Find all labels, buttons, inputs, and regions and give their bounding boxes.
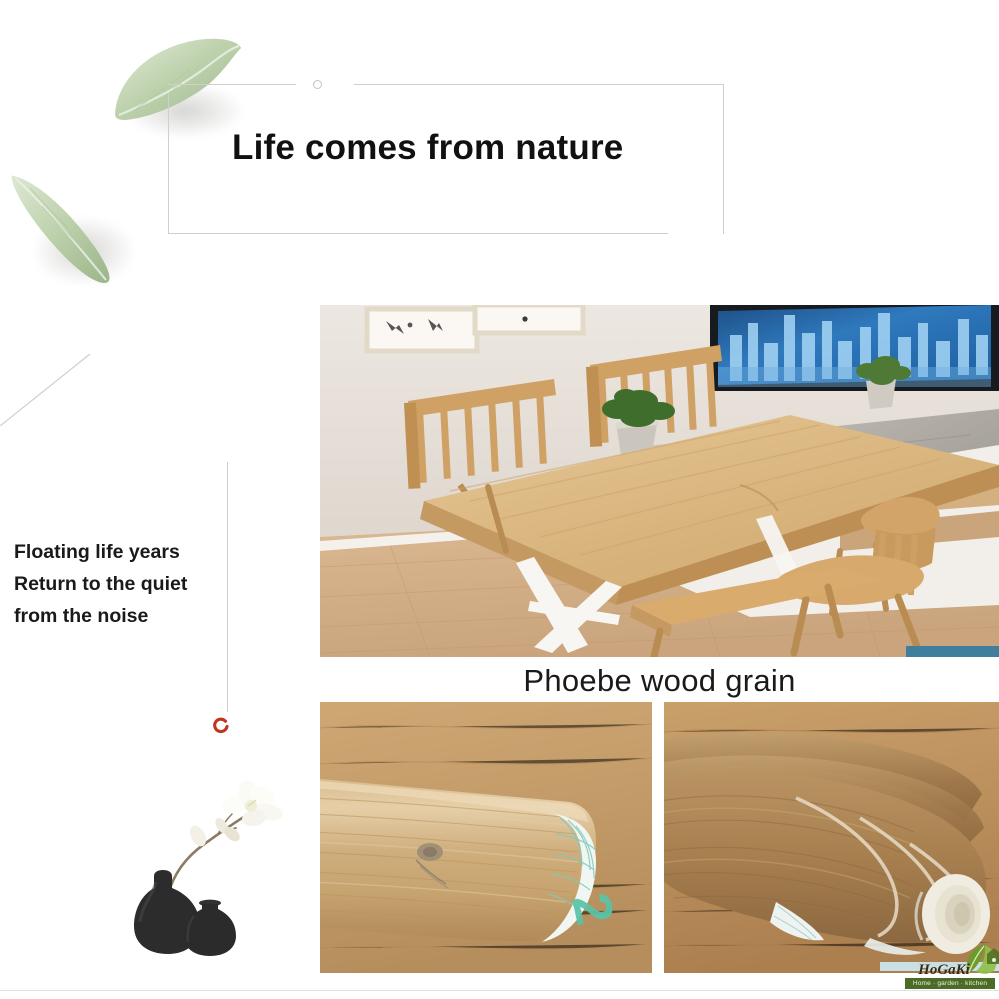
footer-divider <box>0 990 999 991</box>
tagline-line-2: Return to the quiet <box>14 568 224 600</box>
product-banner: Life comes from nature Floating life yea… <box>0 0 999 999</box>
product-caption: Phoebe wood grain <box>320 660 999 702</box>
frame-line-left <box>168 93 169 234</box>
brand-tagline: Home · garden · kitchen <box>905 978 995 989</box>
frame-line-top-left <box>168 84 296 85</box>
frame-line-top-right <box>354 84 724 85</box>
brand-logo: HoGaKi Home · garden · kitchen <box>905 944 999 992</box>
vertical-guide-line <box>227 462 228 712</box>
ring-marker-icon <box>211 716 231 736</box>
tagline-line-3: from the noise <box>14 600 224 632</box>
vase-illustration <box>118 770 288 960</box>
frame-dot-icon <box>313 80 322 89</box>
dining-room-photo <box>320 305 999 657</box>
page-title: Life comes from nature <box>232 128 752 168</box>
brand-name: HoGaKi <box>905 962 983 979</box>
tagline-block: Floating life years Return to the quiet … <box>14 536 224 632</box>
frame-line-bottom <box>168 233 668 234</box>
wood-roll-dark-photo <box>664 702 999 973</box>
wood-roll-light-photo: 2 <box>320 702 652 973</box>
leaf-left-icon <box>8 160 128 290</box>
tagline-line-1: Floating life years <box>14 536 224 568</box>
teal-accent-strip <box>906 646 999 657</box>
diagonal-guide-line <box>0 352 116 426</box>
